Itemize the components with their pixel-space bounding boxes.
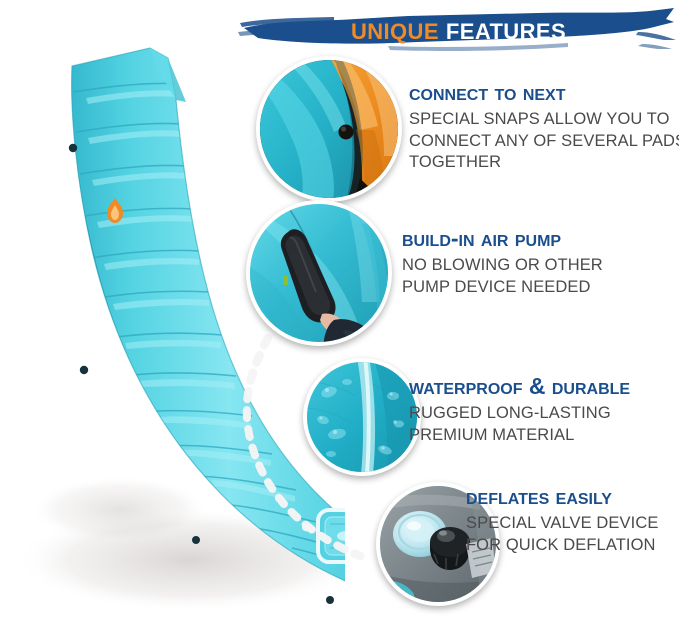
infographic-canvas: Unique Features — [0, 0, 679, 630]
feature-body: Rugged long-lasting premium material — [409, 403, 679, 446]
title-word-unique: Unique — [351, 13, 439, 44]
feature-block-waterproof: Waterproof & Durable Rugged long-lasting… — [409, 374, 679, 446]
snap-button-closeup — [339, 125, 354, 140]
feature-body-line: Special valve device — [466, 513, 679, 534]
snap-button — [192, 536, 200, 544]
feature-heading: Waterproof & Durable — [409, 374, 679, 398]
feature-body-line: together — [409, 152, 679, 173]
photo-circle-connect-to-next — [256, 56, 402, 202]
feature-heading: Deflates Easily — [466, 484, 679, 508]
feature-body-line: Special snaps allow you to — [409, 109, 679, 130]
feature-body: Special snaps allow you to connect any o… — [409, 109, 679, 173]
feature-heading: Connect to Next — [409, 80, 679, 104]
feature-body-line: premium material — [409, 425, 679, 446]
feature-heading: Build-in Air Pump — [402, 226, 679, 250]
feature-body-line: No blowing or other — [402, 255, 679, 276]
feature-body-line: for quick deflation — [466, 535, 679, 556]
title-word-features: Features — [446, 13, 566, 44]
feature-body-line: pump device needed — [402, 277, 679, 298]
snap-button — [80, 366, 88, 374]
feature-block-deflate: Deflates Easily Special valve device for… — [466, 484, 679, 556]
feature-body: No blowing or other pump device needed — [402, 255, 679, 298]
feature-body-line: Rugged long-lasting — [409, 403, 679, 424]
feature-body: Special valve device for quick deflation — [466, 513, 679, 556]
feature-body-line: connect any of several pads — [409, 131, 679, 152]
snap-button — [326, 596, 334, 604]
valve-plug — [430, 527, 470, 570]
feature-block-air-pump: Build-in Air Pump No blowing or other pu… — [402, 226, 679, 298]
photo-circle-waterproof — [303, 358, 421, 476]
snap-button — [69, 144, 77, 152]
photo-circle-air-pump — [246, 200, 392, 346]
feature-block-connect: Connect to Next Special snaps allow you … — [409, 80, 679, 173]
